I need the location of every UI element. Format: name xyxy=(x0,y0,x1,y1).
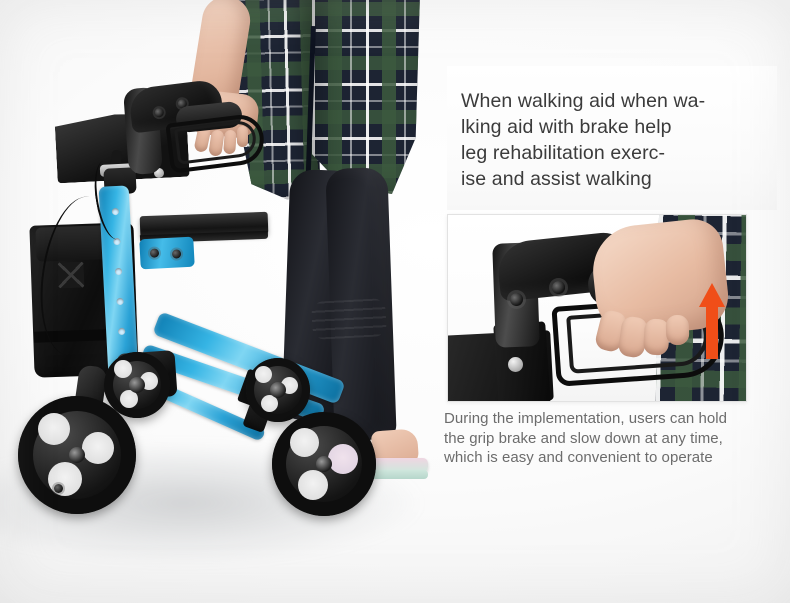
caption-line-3: which is easy and convenient to operate xyxy=(444,448,760,468)
screw-icon xyxy=(510,293,523,306)
screw-icon xyxy=(552,281,565,294)
headline-line-1: When walking aid when wa- xyxy=(461,88,761,114)
up-arrow-icon xyxy=(699,283,725,359)
headline-text: When walking aid when wa- lking aid with… xyxy=(447,66,777,210)
height-adjust-hole xyxy=(118,328,125,335)
brake-grip-closeup-photo xyxy=(447,214,747,402)
caption-line-1: During the implementation, users can hol… xyxy=(444,409,760,429)
finger xyxy=(665,315,689,346)
height-adjust-hole xyxy=(115,268,122,275)
height-adjust-hole xyxy=(116,298,123,305)
caption-text: During the implementation, users can hol… xyxy=(444,409,760,468)
wheel-hub xyxy=(129,377,145,393)
product-marketing-image: When walking aid when wa- lking aid with… xyxy=(0,0,790,603)
wheel-hub xyxy=(69,447,85,463)
caption-line-2: the grip brake and slow down at any time… xyxy=(444,429,760,449)
screw-icon xyxy=(54,484,63,493)
wheel xyxy=(272,412,376,516)
plaid-shirt-panel xyxy=(312,0,420,194)
main-product-photo xyxy=(0,0,470,603)
ankle-fold xyxy=(311,298,387,340)
fabric-rivet xyxy=(508,357,523,372)
screw-icon xyxy=(172,249,181,258)
screw-icon xyxy=(150,248,159,257)
wheel-hub xyxy=(270,382,286,398)
headline-line-4: ise and assist walking xyxy=(461,166,761,192)
wheel xyxy=(246,358,310,422)
seat-bracket xyxy=(139,237,194,270)
wheel-hub xyxy=(316,456,332,472)
headline-line-2: lking aid with brake help xyxy=(461,114,761,140)
wheel xyxy=(18,396,136,514)
screw-icon xyxy=(154,108,164,118)
headline-line-3: leg rehabilitation exerc- xyxy=(461,140,761,166)
